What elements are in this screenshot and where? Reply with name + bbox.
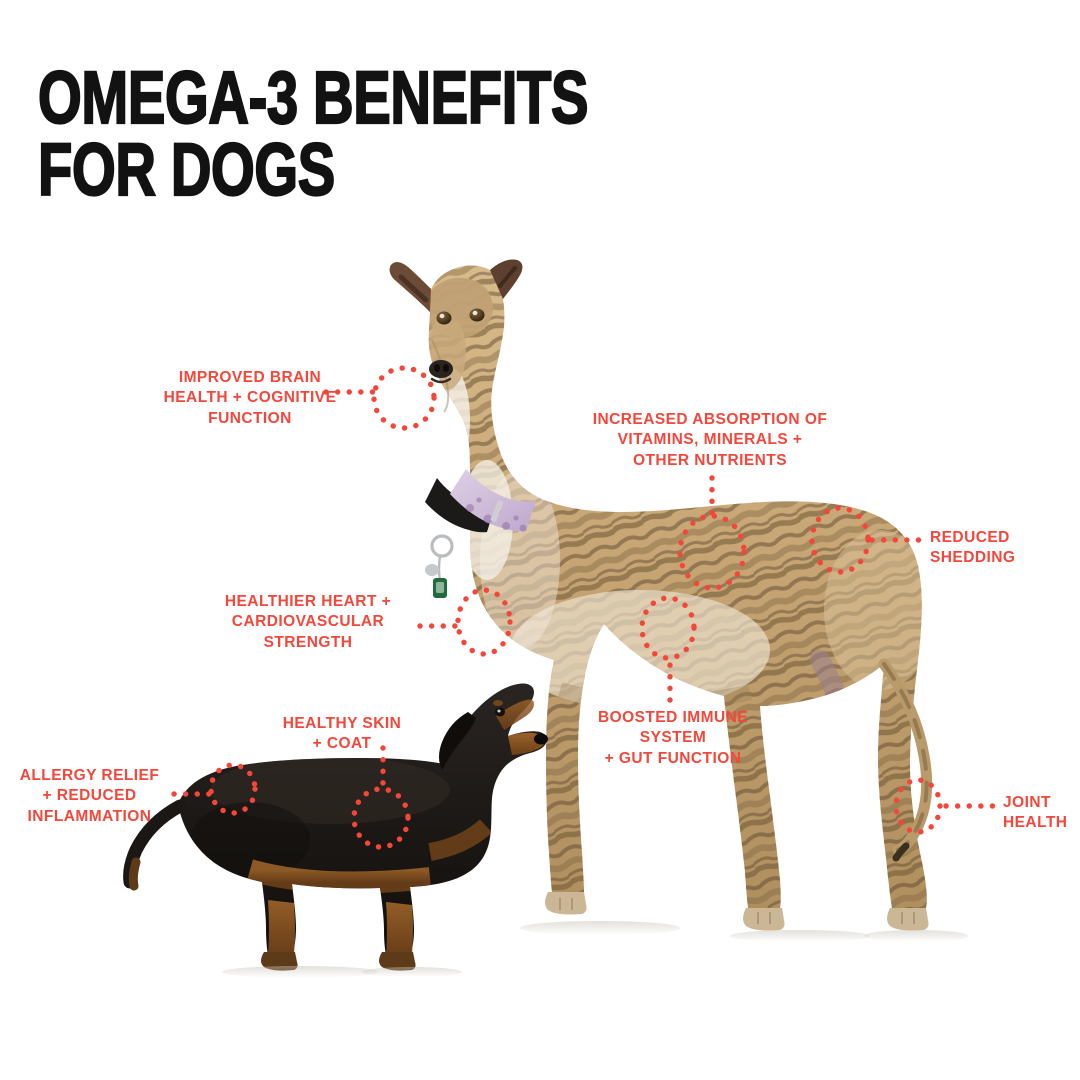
- dachshund-nose: [534, 734, 548, 745]
- callout-label-immune: BOOSTED IMMUNE SYSTEM + GUT FUNCTION: [578, 708, 768, 769]
- greyhound-collar-ring: [432, 536, 452, 556]
- callout-label-joint: JOINT HEALTH: [1003, 793, 1080, 834]
- callout-label-brain: IMPROVED BRAIN HEALTH + COGNITIVE FUNCTI…: [120, 368, 380, 429]
- title-line-2: FOR DOGS: [38, 134, 570, 206]
- callout-label-absorption: INCREASED ABSORPTION OF VITAMINS, MINERA…: [570, 410, 850, 471]
- page-title: OMEGA-3 BENEFITS FOR DOGS: [38, 62, 570, 206]
- greyhound-eye-right: [470, 309, 485, 322]
- greyhound-eye-left: [437, 312, 452, 325]
- title-line-1: OMEGA-3 BENEFITS: [38, 62, 570, 134]
- infographic-canvas: OMEGA-3 BENEFITS FOR DOGS IMPROVED BRAIN…: [0, 0, 1080, 1080]
- callout-label-shedding: REDUCED SHEDDING: [930, 528, 1080, 569]
- callout-label-skin: HEALTHY SKIN + COAT: [262, 714, 422, 755]
- callout-label-heart: HEALTHIER HEART + CARDIOVASCULAR STRENGT…: [208, 592, 408, 653]
- callout-label-allergy: ALLERGY RELIEF + REDUCED INFLAMMATION: [2, 766, 177, 827]
- greyhound-nose: [429, 360, 453, 378]
